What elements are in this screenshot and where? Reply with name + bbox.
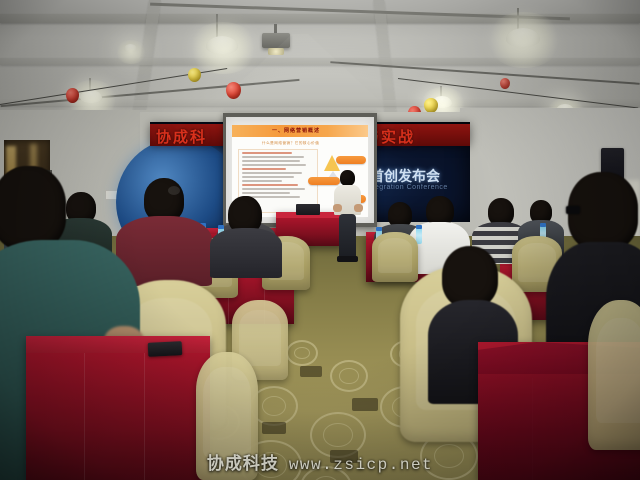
presenter-head <box>340 170 355 186</box>
bottle-cap <box>376 227 382 231</box>
bottle-cap <box>540 223 546 227</box>
red-balloon <box>500 78 510 89</box>
slide-callout <box>336 156 366 164</box>
yellow-balloon <box>188 68 201 82</box>
yellow-balloon <box>424 98 438 113</box>
presenter-legs <box>339 214 356 258</box>
red-balloon <box>226 82 241 99</box>
chair <box>588 300 640 450</box>
slide-subtitle: 什么是网络营销？它的核心价值 <box>262 141 319 146</box>
presenter-shoes <box>337 256 358 262</box>
backdrop-title-left: 协成科 <box>156 126 207 147</box>
presenter-hand <box>333 204 342 212</box>
conference-room-photo: 协成科 与实战 下首创发布会 IT Integration Conference… <box>0 0 640 480</box>
bottle-cap <box>218 225 224 229</box>
bottle-cap <box>416 225 422 229</box>
laptop[interactable] <box>296 204 320 215</box>
chair <box>196 352 258 480</box>
attendee-head <box>442 246 498 308</box>
attendee-head <box>0 166 66 250</box>
smartphone[interactable] <box>148 341 183 357</box>
glasses-icon <box>566 206 580 214</box>
slide-callout <box>308 177 340 185</box>
presenter-hand <box>354 204 363 212</box>
chair <box>372 232 418 282</box>
attendee-body <box>210 228 282 278</box>
slide-title: 一、网络营销概述 <box>272 127 320 134</box>
table-foreground-left <box>26 336 210 480</box>
red-balloon <box>66 88 79 103</box>
